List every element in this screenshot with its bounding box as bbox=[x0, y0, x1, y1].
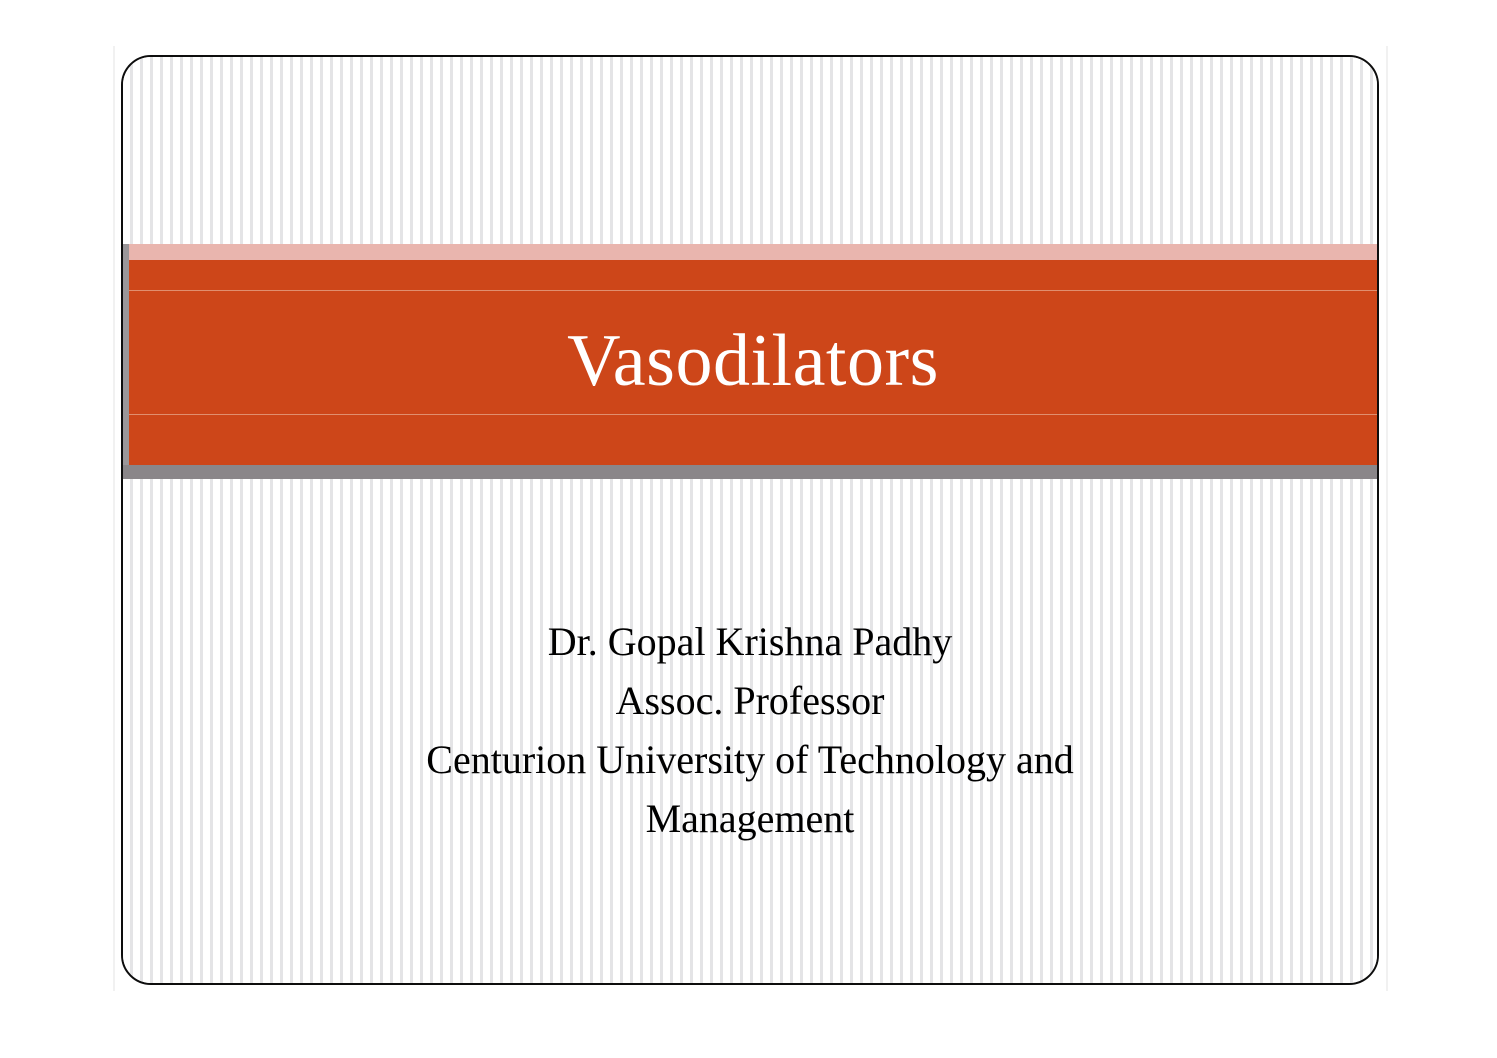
slide-subtitle: Dr. Gopal Krishna Padhy Assoc. Professor… bbox=[123, 612, 1377, 848]
subtitle-line-designation: Assoc. Professor bbox=[123, 671, 1377, 730]
subtitle-line-institution-1: Centurion University of Technology and bbox=[123, 730, 1377, 789]
title-banner: Vasodilators bbox=[123, 244, 1377, 479]
banner-pink-stripe bbox=[129, 244, 1377, 260]
subtitle-line-institution-2: Management bbox=[123, 789, 1377, 848]
page-edge-shadow-right bbox=[1386, 46, 1388, 991]
slide-title: Vasodilators bbox=[129, 260, 1377, 465]
slide-canvas: Vasodilators Dr. Gopal Krishna Padhy Ass… bbox=[0, 0, 1497, 1058]
banner-gray-stripe bbox=[123, 465, 1377, 479]
slide-page: Vasodilators Dr. Gopal Krishna Padhy Ass… bbox=[121, 55, 1379, 985]
subtitle-line-author: Dr. Gopal Krishna Padhy bbox=[123, 612, 1377, 671]
page-edge-shadow-left bbox=[113, 46, 115, 991]
